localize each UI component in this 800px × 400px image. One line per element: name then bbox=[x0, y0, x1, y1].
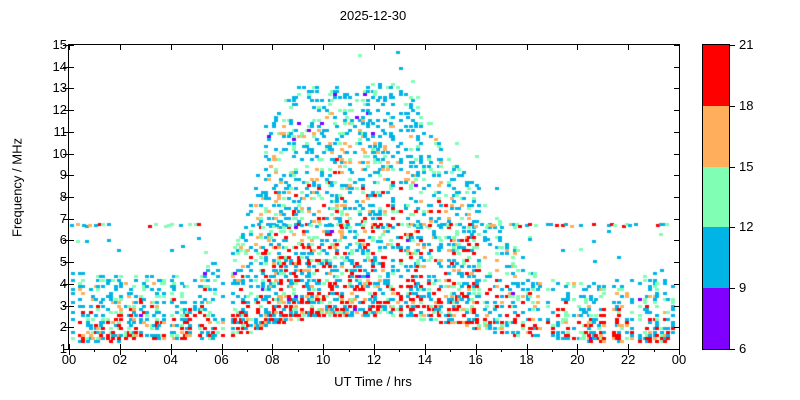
y-axis-tick-inner bbox=[69, 327, 74, 328]
y-axis-tick-label: 11 bbox=[27, 125, 67, 138]
x-axis-minor-tick bbox=[349, 349, 350, 352]
x-axis-tick-label: 00 bbox=[49, 353, 89, 366]
colorbar-tick bbox=[730, 227, 735, 228]
x-axis-tick-top bbox=[476, 45, 477, 50]
colorbar-tick-label: 15 bbox=[739, 160, 753, 173]
scatter-data-layer bbox=[69, 45, 679, 349]
x-axis-tick-inner bbox=[171, 344, 172, 349]
y-axis-tick-inner bbox=[69, 175, 74, 176]
y-axis-tick-label: 15 bbox=[27, 38, 67, 51]
y-axis-tick-label: 10 bbox=[27, 147, 67, 160]
x-axis-tick-label: 18 bbox=[507, 353, 547, 366]
y-axis-tick-inner bbox=[69, 284, 74, 285]
y-axis-tick-right bbox=[674, 132, 679, 133]
y-axis-tick-label: 5 bbox=[27, 255, 67, 268]
chart-title: 2025-12-30 bbox=[68, 8, 678, 24]
chart-figure: 2025-12-30 123456789101112131415 0002040… bbox=[0, 0, 800, 400]
x-axis-tick-label: 10 bbox=[303, 353, 343, 366]
y-axis-tick-right bbox=[674, 262, 679, 263]
y-axis-tick-inner bbox=[69, 197, 74, 198]
y-axis-tick-inner bbox=[69, 219, 74, 220]
y-axis-tick-right bbox=[674, 240, 679, 241]
y-axis-tick-right bbox=[674, 327, 679, 328]
x-axis-tick-inner bbox=[272, 344, 273, 349]
x-axis-tick-inner bbox=[527, 344, 528, 349]
plot-area: 123456789101112131415 000204060810121416… bbox=[68, 44, 680, 350]
colorbar: 6912151821 bbox=[702, 44, 730, 350]
colorbar-tick bbox=[730, 288, 735, 289]
x-axis-tick-inner bbox=[476, 344, 477, 349]
y-axis-tick-inner bbox=[69, 240, 74, 241]
y-axis-tick-inner bbox=[69, 132, 74, 133]
y-axis-tick-right bbox=[674, 88, 679, 89]
x-axis-tick-top bbox=[69, 45, 70, 50]
x-axis-minor-tick bbox=[247, 349, 248, 352]
colorbar-tick bbox=[730, 106, 735, 107]
colorbar-band-cyan bbox=[703, 227, 729, 288]
x-axis-minor-tick bbox=[94, 349, 95, 352]
x-axis-tick-label: 22 bbox=[608, 353, 648, 366]
y-axis-tick-label: 14 bbox=[27, 60, 67, 73]
colorbar-tick-label: 18 bbox=[739, 99, 753, 112]
x-axis-tick-top bbox=[272, 45, 273, 50]
x-axis-tick-top bbox=[171, 45, 172, 50]
y-axis-tick-label: 12 bbox=[27, 103, 67, 116]
x-axis-minor-tick bbox=[450, 349, 451, 352]
x-axis-tick-inner bbox=[222, 344, 223, 349]
x-axis-tick-inner bbox=[323, 344, 324, 349]
x-axis-tick-top bbox=[577, 45, 578, 50]
x-axis-tick-top bbox=[323, 45, 324, 50]
y-axis-tick-right bbox=[674, 284, 679, 285]
x-axis-tick-top bbox=[120, 45, 121, 50]
x-axis-tick-top bbox=[425, 45, 426, 50]
x-axis-minor-tick bbox=[196, 349, 197, 352]
colorbar-band-purple bbox=[703, 288, 729, 349]
x-axis-tick-label: 06 bbox=[202, 353, 242, 366]
x-axis-tick-inner bbox=[69, 344, 70, 349]
y-axis-tick-right bbox=[674, 219, 679, 220]
y-axis-tick-label: 9 bbox=[27, 168, 67, 181]
x-axis-tick-inner bbox=[425, 344, 426, 349]
y-axis-tick-inner bbox=[69, 67, 74, 68]
x-axis-tick-top bbox=[222, 45, 223, 50]
y-axis-tick-label: 7 bbox=[27, 212, 67, 225]
x-axis-minor-tick bbox=[145, 349, 146, 352]
x-axis-tick-top bbox=[527, 45, 528, 50]
y-axis-tick-right bbox=[674, 67, 679, 68]
y-axis-tick-right bbox=[674, 306, 679, 307]
y-axis-tick-label: 8 bbox=[27, 190, 67, 203]
x-axis-tick-top bbox=[374, 45, 375, 50]
x-axis-tick-inner bbox=[120, 344, 121, 349]
colorbar-band-mint-green bbox=[703, 167, 729, 228]
colorbar-tick-label: 6 bbox=[739, 342, 746, 355]
y-axis-tick-inner bbox=[69, 110, 74, 111]
colorbar-tick-label: 21 bbox=[739, 38, 753, 51]
y-axis-tick-inner bbox=[69, 306, 74, 307]
x-axis-minor-tick bbox=[298, 349, 299, 352]
x-axis-minor-tick bbox=[399, 349, 400, 352]
y-axis-tick-inner bbox=[69, 88, 74, 89]
x-axis-tick-inner bbox=[679, 344, 680, 349]
x-axis-tick-label: 02 bbox=[100, 353, 140, 366]
y-axis-tick-right bbox=[674, 110, 679, 111]
x-axis-tick-label: 16 bbox=[456, 353, 496, 366]
colorbar-tick bbox=[730, 349, 735, 350]
x-axis-tick-inner bbox=[577, 344, 578, 349]
y-axis-title: Frequency / MHz bbox=[10, 98, 25, 278]
colorbar-tick bbox=[730, 45, 735, 46]
y-axis-tick-inner bbox=[69, 154, 74, 155]
x-axis-minor-tick bbox=[501, 349, 502, 352]
colorbar-tick-label: 9 bbox=[739, 281, 746, 294]
colorbar-tick bbox=[730, 167, 735, 168]
x-axis-minor-tick bbox=[552, 349, 553, 352]
x-axis-minor-tick bbox=[603, 349, 604, 352]
x-axis-tick-label: 12 bbox=[354, 353, 394, 366]
x-axis-tick-label: 04 bbox=[151, 353, 191, 366]
y-axis-tick-right bbox=[674, 197, 679, 198]
x-axis-minor-tick bbox=[654, 349, 655, 352]
x-axis-tick-label: 20 bbox=[557, 353, 597, 366]
y-axis-tick-label: 4 bbox=[27, 277, 67, 290]
y-axis-tick-right bbox=[674, 154, 679, 155]
y-axis-tick-label: 13 bbox=[27, 81, 67, 94]
x-axis-title: UT Time / hrs bbox=[68, 374, 678, 389]
x-axis-tick-inner bbox=[628, 344, 629, 349]
colorbar-band-red bbox=[703, 45, 729, 106]
y-axis-tick-label: 6 bbox=[27, 233, 67, 246]
colorbar-tick-label: 12 bbox=[739, 220, 753, 233]
x-axis-tick-inner bbox=[374, 344, 375, 349]
y-axis-tick-label: 2 bbox=[27, 320, 67, 333]
x-axis-tick-label: 14 bbox=[405, 353, 445, 366]
x-axis-tick-top bbox=[679, 45, 680, 50]
x-axis-tick-label: 00 bbox=[659, 353, 699, 366]
y-axis-tick-right bbox=[674, 175, 679, 176]
colorbar-band-orange bbox=[703, 106, 729, 167]
x-axis-tick-top bbox=[628, 45, 629, 50]
y-axis-tick-label: 3 bbox=[27, 299, 67, 312]
y-axis-tick-inner bbox=[69, 262, 74, 263]
x-axis-tick-label: 08 bbox=[252, 353, 292, 366]
